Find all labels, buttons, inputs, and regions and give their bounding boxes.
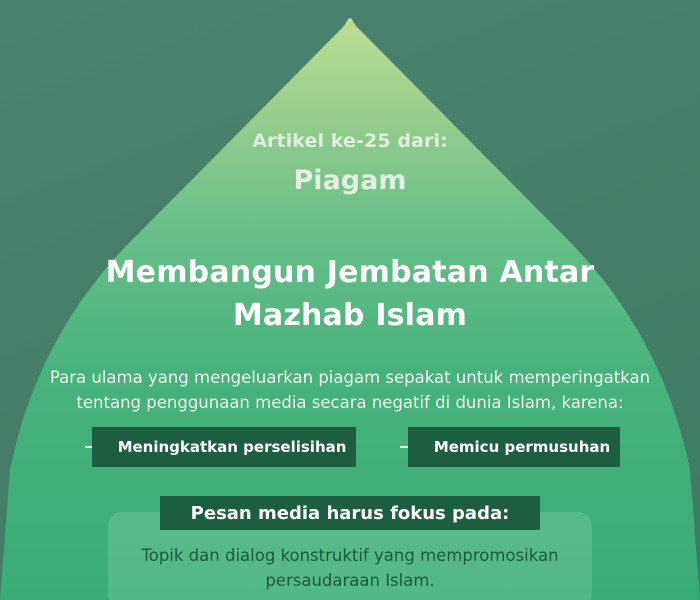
focus-card-header: Pesan media harus fokus pada: xyxy=(160,496,540,530)
intro-paragraph: Para ulama yang mengeluarkan piagam sepa… xyxy=(38,365,662,416)
series-name: Piagam xyxy=(0,165,700,196)
reason-badge-2-label: Memicu permusuhan xyxy=(408,438,620,456)
series-kicker: Artikel ke-25 dari: xyxy=(0,130,700,152)
reason-badge-1: Meningkatkan perselisihan xyxy=(92,427,356,467)
page-title: Membangun Jembatan Antar Mazhab Islam xyxy=(60,252,640,337)
infographic-poster: Artikel ke-25 dari: Piagam Membangun Jem… xyxy=(0,0,700,600)
focus-card-header-label: Pesan media harus fokus pada: xyxy=(191,503,510,524)
reason-badge-2: Memicu permusuhan xyxy=(408,427,620,467)
reasons-row: Meningkatkan perselisihan Memicu permusu… xyxy=(0,427,700,469)
reason-badge-1-label: Meningkatkan perselisihan xyxy=(92,438,357,456)
focus-card-body: Topik dan dialog konstruktif yang mempro… xyxy=(125,544,575,594)
poster-content: Artikel ke-25 dari: Piagam Membangun Jem… xyxy=(0,0,700,600)
